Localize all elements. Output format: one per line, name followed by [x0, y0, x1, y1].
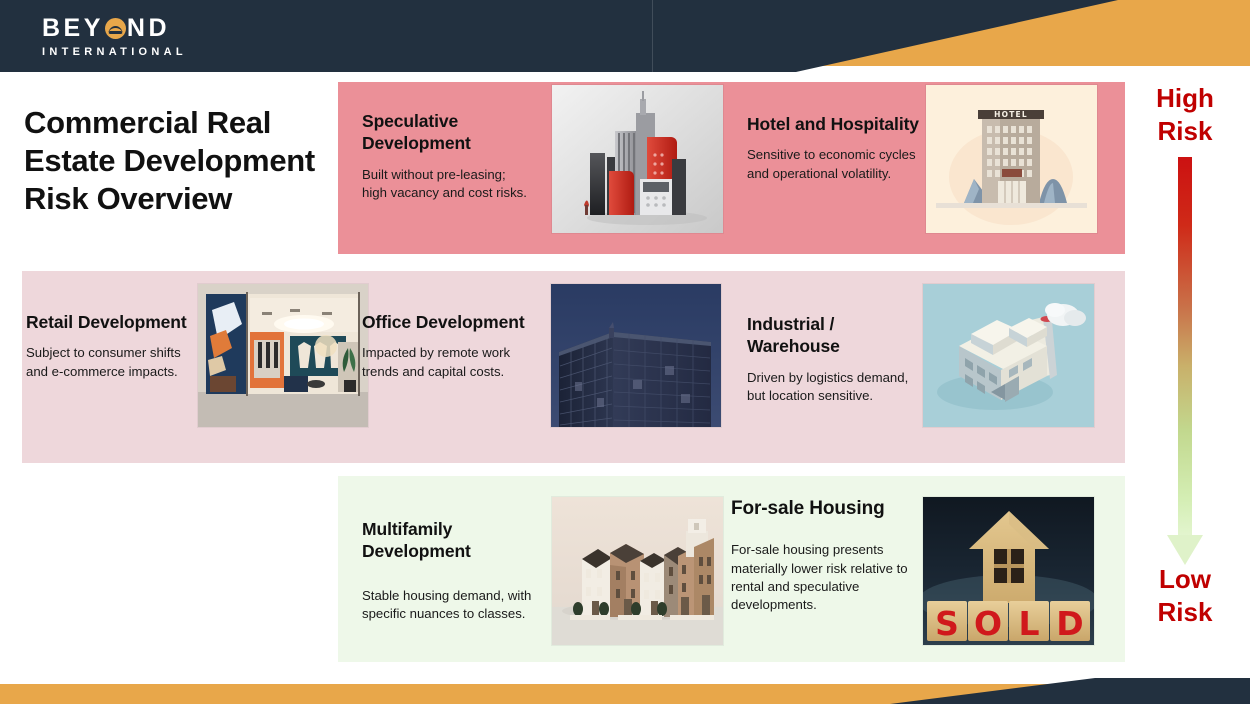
- header-divider-line: [652, 0, 653, 72]
- retail-store-interior-graphic: [198, 284, 368, 427]
- image-factory-warehouse: [923, 284, 1094, 427]
- skyscrapers-graphic: [552, 85, 723, 233]
- image-retail-interior: [198, 284, 368, 427]
- card-description: Sensitive to economic cycles and operati…: [747, 146, 922, 182]
- card-multifamily-development: Multifamily Development Stable housing d…: [362, 518, 540, 623]
- risk-gradient-arrow-head: [1167, 535, 1203, 565]
- card-description: Impacted by remote work trends and capit…: [362, 344, 538, 380]
- card-forsale-housing: For-sale Housing For-sale housing presen…: [731, 497, 913, 614]
- risk-label-low-line2: Risk: [1129, 596, 1241, 629]
- risk-scale: High Risk Low Risk: [1129, 82, 1241, 662]
- logo-text-after: ND: [127, 16, 170, 41]
- hotel-building-graphic: HOTEL: [926, 85, 1097, 233]
- card-retail-development: Retail Development Subject to consumer s…: [26, 311, 198, 381]
- header-bar: BEY ND INTERNATIONAL: [0, 0, 1250, 72]
- card-description: For-sale housing presents materially low…: [731, 541, 913, 614]
- image-office-building: [551, 284, 721, 427]
- card-hotel-hospitality: Hotel and Hospitality Sensitive to econo…: [747, 113, 922, 183]
- image-sold-house: S O L D: [923, 497, 1094, 645]
- svg-text:S: S: [935, 604, 959, 643]
- isometric-factory-graphic: [923, 284, 1094, 427]
- sold-house-blocks-graphic: S O L D: [923, 497, 1094, 645]
- footer-bar: [0, 678, 1250, 704]
- card-title: Office Development: [362, 311, 538, 333]
- office-tower-graphic: [551, 284, 721, 427]
- card-title: Multifamily Development: [362, 518, 540, 563]
- svg-text:D: D: [1056, 604, 1083, 643]
- sunrise-circle-icon: [105, 18, 126, 39]
- logo-wordmark: BEY ND: [42, 16, 187, 41]
- risk-label-low-line1: Low: [1129, 563, 1241, 596]
- image-skyscrapers: [552, 85, 723, 233]
- footer-navy-edge: [1245, 678, 1250, 704]
- risk-label-high: High Risk: [1129, 82, 1241, 147]
- brand-logo: BEY ND INTERNATIONAL: [42, 16, 187, 58]
- card-title: For-sale Housing: [731, 497, 913, 521]
- risk-label-high-line1: High: [1129, 82, 1241, 115]
- image-hotel: HOTEL: [926, 85, 1097, 233]
- card-title: Hotel and Hospitality: [747, 113, 922, 135]
- card-industrial-warehouse: Industrial / Warehouse Driven by logisti…: [747, 313, 923, 405]
- card-description: Driven by logistics demand, but location…: [747, 369, 923, 405]
- risk-gradient-arrow-shaft: [1178, 157, 1192, 537]
- logo-text-before: BEY: [42, 16, 104, 41]
- townhouses-graphic: [552, 497, 723, 645]
- logo-subtitle: INTERNATIONAL: [42, 47, 187, 58]
- svg-text:O: O: [974, 604, 1002, 643]
- card-description: Stable housing demand, with specific nua…: [362, 587, 540, 623]
- risk-label-high-line2: Risk: [1129, 115, 1241, 148]
- svg-text:L: L: [1018, 604, 1039, 643]
- page-title: Commercial Real Estate Development Risk …: [24, 104, 329, 217]
- card-office-development: Office Development Impacted by remote wo…: [362, 311, 538, 381]
- svg-text:HOTEL: HOTEL: [994, 110, 1028, 119]
- slide: BEY ND INTERNATIONAL Commercial Real Est…: [0, 0, 1250, 704]
- risk-label-low: Low Risk: [1129, 563, 1241, 628]
- card-speculative-development: Speculative Development Built without pr…: [362, 110, 534, 202]
- image-townhouses: [552, 497, 723, 645]
- card-title: Industrial / Warehouse: [747, 313, 923, 358]
- card-description: Built without pre-leasing; high vacancy …: [362, 166, 534, 202]
- card-title: Speculative Development: [362, 110, 534, 155]
- card-title: Retail Development: [26, 311, 198, 333]
- card-description: Subject to consumer shifts and e-commerc…: [26, 344, 198, 380]
